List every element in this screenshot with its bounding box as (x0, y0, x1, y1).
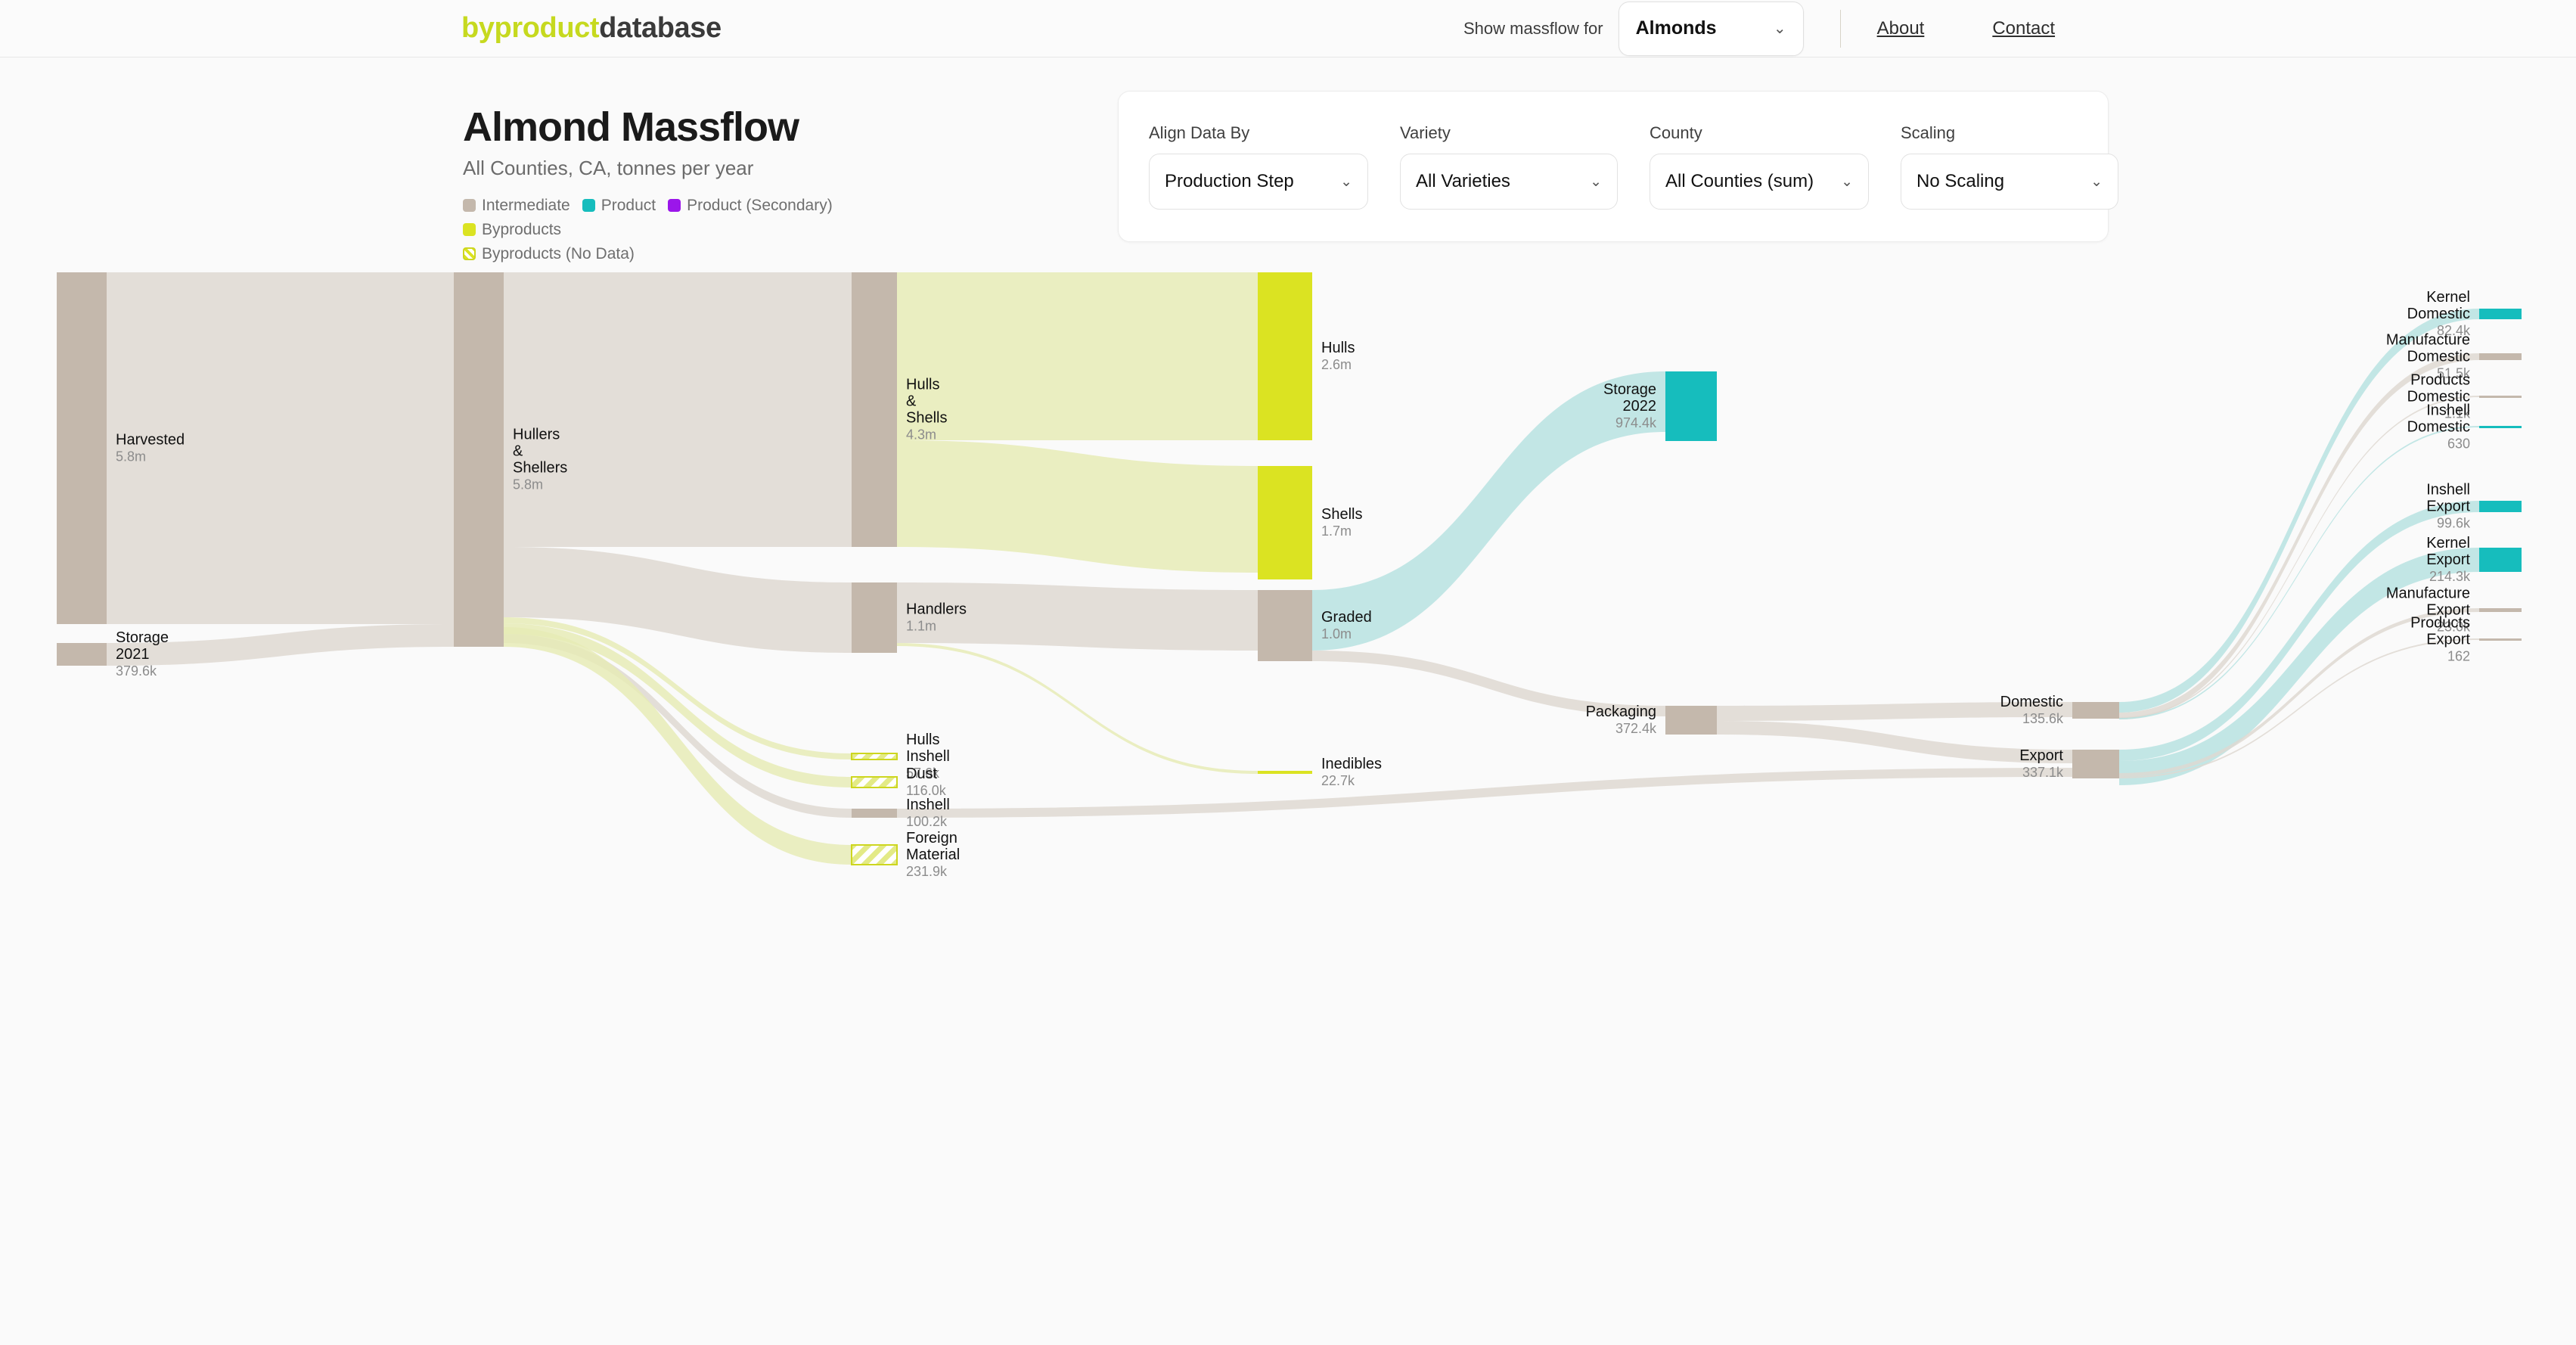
filter-field: VarietyAll Varieties⌄ (1400, 123, 1618, 210)
legend-label: Product (601, 194, 656, 218)
sankey-node-label: Handlers (906, 601, 967, 618)
filter-select[interactable]: All Varieties⌄ (1400, 154, 1618, 210)
sankey-node-label: Inshell (2426, 402, 2470, 419)
legend-swatch-icon (582, 199, 595, 212)
filter-label: Scaling (1901, 123, 2118, 143)
chevron-down-icon: ⌄ (1579, 173, 1602, 191)
legend-swatch-icon (463, 223, 476, 236)
sankey-node-label: Export (2426, 551, 2470, 568)
sankey-node-rect[interactable] (2072, 702, 2119, 719)
sankey-link[interactable] (897, 272, 1258, 440)
sankey-node-value: 100.2k (906, 814, 948, 829)
sankey-node-rect[interactable] (2479, 638, 2522, 641)
sankey-node[interactable]: Dust116.0k (852, 766, 947, 798)
legend-label: Byproducts (No Data) (482, 242, 635, 266)
sankey-node-rect[interactable] (852, 809, 897, 818)
sankey-node-value: 116.0k (906, 783, 947, 798)
sankey-node-rect[interactable] (1258, 771, 1312, 774)
sankey-node-label: Export (2426, 499, 2470, 515)
legend-swatch-icon (668, 199, 681, 212)
sankey-node-rect[interactable] (2479, 548, 2522, 572)
filter-select-value: All Varieties (1416, 171, 1510, 192)
sankey-node-value: 379.6k (116, 663, 157, 679)
sankey-node-rect[interactable] (2479, 608, 2522, 612)
legend-label: Intermediate (482, 194, 570, 218)
sankey-node-rect[interactable] (2479, 426, 2522, 428)
sankey-node-rect[interactable] (1258, 590, 1312, 661)
sankey-node-rect[interactable] (1665, 706, 1717, 735)
sankey-node-value: 135.6k (2022, 711, 2064, 726)
filter-label: Variety (1400, 123, 1618, 143)
filter-select[interactable]: No Scaling⌄ (1901, 154, 2118, 210)
sankey-node-label: Domestic (2407, 306, 2470, 322)
sankey-link[interactable] (897, 768, 2072, 818)
legend-item: Byproducts (463, 218, 561, 242)
sankey-node-value: 4.3m (906, 427, 936, 443)
sankey-node-label: Manufacture (2386, 332, 2470, 349)
chevron-down-icon: ⌄ (1774, 19, 1786, 38)
sankey-node-label: Domestic (2407, 419, 2470, 436)
legend-label: Product (Secondary) (687, 194, 833, 218)
sankey-node-label: Harvested (116, 432, 185, 449)
filter-label: County (1650, 123, 1869, 143)
sankey-node-label: Inshell (906, 797, 950, 813)
sankey-node-label: Manufacture (2386, 586, 2470, 602)
sankey-node-rect[interactable] (57, 643, 107, 666)
sankey-node-label: Hulls (906, 732, 939, 748)
sankey-node-label: Storage (116, 629, 169, 646)
sankey-link[interactable] (504, 634, 852, 818)
sankey-node-rect[interactable] (852, 753, 897, 759)
sankey-node-label: 2022 (1623, 398, 1657, 415)
sankey-node-label: Inedibles (1321, 756, 1382, 772)
sankey-node-label: Inshell (2426, 482, 2470, 499)
chart-legend: IntermediateProductProduct (Secondary)By… (463, 194, 932, 267)
sankey-link[interactable] (504, 627, 852, 865)
sankey-node-value: 22.7k (1321, 773, 1355, 788)
chevron-down-icon: ⌄ (1330, 173, 1352, 191)
sankey-node-label: Shells (906, 410, 947, 427)
filter-field: ScalingNo Scaling⌄ (1901, 123, 2118, 210)
brand-logo[interactable]: byproductdatabase (461, 12, 722, 45)
sankey-node-value: 5.8m (116, 449, 146, 464)
sankey-link[interactable] (897, 643, 1258, 774)
sankey-node-rect[interactable] (2479, 501, 2522, 512)
nav-divider (1840, 10, 1841, 48)
filter-field: CountyAll Counties (sum)⌄ (1650, 123, 1869, 210)
sankey-node[interactable]: Domestic135.6k (2000, 694, 2119, 726)
sankey-node-value: 372.4k (1615, 721, 1657, 736)
sankey-node-label: Graded (1321, 609, 1372, 626)
sankey-node-value: 231.9k (906, 864, 948, 879)
sankey-node-rect[interactable] (1258, 466, 1312, 579)
sankey-node-label: Material (906, 846, 960, 863)
sankey-node-rect[interactable] (852, 845, 897, 865)
sankey-node-label: Shells (1321, 506, 1362, 523)
chevron-down-icon: ⌄ (2080, 173, 2103, 191)
filter-select-value: All Counties (sum) (1665, 171, 1814, 192)
nav-link-about[interactable]: About (1877, 18, 1925, 39)
sankey-node[interactable]: Packaging372.4k (1586, 704, 1717, 736)
sankey-node-label: Export (2019, 747, 2063, 764)
sankey-node-rect[interactable] (2479, 396, 2522, 398)
sankey-node-rect[interactable] (57, 272, 107, 624)
sankey-node-rect[interactable] (1665, 371, 1717, 441)
sankey-node[interactable]: Shells1.7m (1258, 466, 1362, 579)
page-title-block: Almond Massflow All Counties, CA, tonnes… (463, 106, 932, 266)
sankey-node[interactable]: ProductsExport162 (2410, 615, 2522, 664)
page-title: Almond Massflow (463, 106, 932, 149)
sankey-node-rect[interactable] (2479, 309, 2522, 319)
brand-logo-part2: database (599, 12, 722, 44)
filter-field: Align Data ByProduction Step⌄ (1149, 123, 1368, 210)
show-massflow-label: Show massflow for (1463, 19, 1603, 39)
crop-select[interactable]: Almonds ⌄ (1619, 2, 1804, 56)
sankey-node-label: & (906, 393, 917, 410)
sankey-node-value: 99.6k (2437, 516, 2471, 531)
brand-logo-part1: byproduct (461, 12, 599, 44)
legend-item: Product (582, 194, 656, 218)
crop-select-value: Almonds (1636, 17, 1717, 39)
nav-link-contact[interactable]: Contact (1992, 18, 2055, 39)
sankey-link[interactable] (897, 440, 1258, 573)
sankey-node-label: Shellers (513, 460, 567, 477)
sankey-node-rect[interactable] (2479, 353, 2522, 360)
sankey-node-value: 2.6m (1321, 357, 1352, 372)
legend-label: Byproducts (482, 218, 561, 242)
sankey-node-rect[interactable] (1258, 272, 1312, 440)
sankey-link[interactable] (504, 272, 852, 547)
filter-select-value: No Scaling (1916, 171, 2004, 192)
sankey-chart: Harvested5.8mStorage2021379.6kHullers&Sh… (0, 272, 2576, 1345)
sankey-node-value: 1.1m (906, 619, 936, 634)
legend-swatch-icon (463, 199, 476, 212)
filter-panel: Align Data ByProduction Step⌄VarietyAll … (1118, 91, 2109, 242)
sankey-node[interactable]: Hulls2.6m (1258, 272, 1355, 440)
sankey-node-label: Storage (1603, 381, 1656, 398)
sankey-node-label: Kernel (2426, 535, 2470, 551)
legend-item: Product (Secondary) (668, 194, 833, 218)
top-header: byproductdatabase Show massflow for Almo… (0, 0, 2576, 57)
chevron-down-icon: ⌄ (1830, 173, 1853, 191)
filter-select-value: Production Step (1165, 171, 1294, 192)
page-subtitle: All Counties, CA, tonnes per year (463, 157, 932, 180)
sankey-node-rect[interactable] (2072, 750, 2119, 778)
sankey-node-label: Inshell (906, 748, 950, 765)
sankey-node[interactable]: ForeignMaterial231.9k (852, 830, 960, 879)
sankey-node-rect[interactable] (852, 777, 897, 787)
sankey-node-label: 2021 (116, 646, 150, 663)
sankey-node-label: Foreign (906, 830, 957, 846)
sankey-node-label: Domestic (2000, 694, 2063, 710)
sankey-link[interactable] (107, 272, 454, 624)
sankey-node-label: Products (2410, 372, 2470, 389)
sankey-node-label: Kernel (2426, 289, 2470, 306)
sankey-node-label: Dust (906, 766, 938, 782)
sankey-node-label: & (513, 443, 523, 460)
sankey-node-value: 214.3k (2429, 569, 2471, 584)
sankey-node-value: 1.7m (1321, 523, 1352, 539)
filter-select[interactable]: All Counties (sum)⌄ (1650, 154, 1869, 210)
sankey-node[interactable]: Inedibles22.7k (1258, 756, 1382, 788)
sankey-node-label: Hullers (513, 427, 560, 443)
sankey-node-rect[interactable] (454, 272, 504, 647)
filter-label: Align Data By (1149, 123, 1368, 143)
header-nav: Show massflow for Almonds ⌄ About Contac… (1463, 2, 2055, 56)
sankey-node-label: Packaging (1586, 704, 1656, 720)
sankey-node-rect[interactable] (852, 272, 897, 547)
sankey-node-rect[interactable] (852, 582, 897, 653)
sankey-node-value: 974.4k (1615, 415, 1657, 430)
sankey-node-value: 1.0m (1321, 626, 1352, 641)
sankey-node-label: Hulls (906, 377, 939, 393)
sankey-node-label: Hulls (1321, 340, 1355, 356)
sankey-node-value: 162 (2447, 649, 2470, 664)
sankey-node-label: Export (2426, 632, 2470, 648)
legend-item: Byproducts (No Data) (463, 242, 635, 266)
sankey-node[interactable]: InshellDomestic630 (2407, 402, 2522, 452)
legend-swatch-icon (463, 247, 476, 260)
sankey-node-label: Products (2410, 615, 2470, 632)
filter-select[interactable]: Production Step⌄ (1149, 154, 1368, 210)
sankey-node-value: 5.8m (513, 477, 543, 492)
sankey-node-label: Domestic (2407, 349, 2470, 365)
sankey-node-value: 630 (2447, 436, 2470, 452)
legend-item: Intermediate (463, 194, 570, 218)
sankey-node-value: 337.1k (2022, 765, 2064, 780)
